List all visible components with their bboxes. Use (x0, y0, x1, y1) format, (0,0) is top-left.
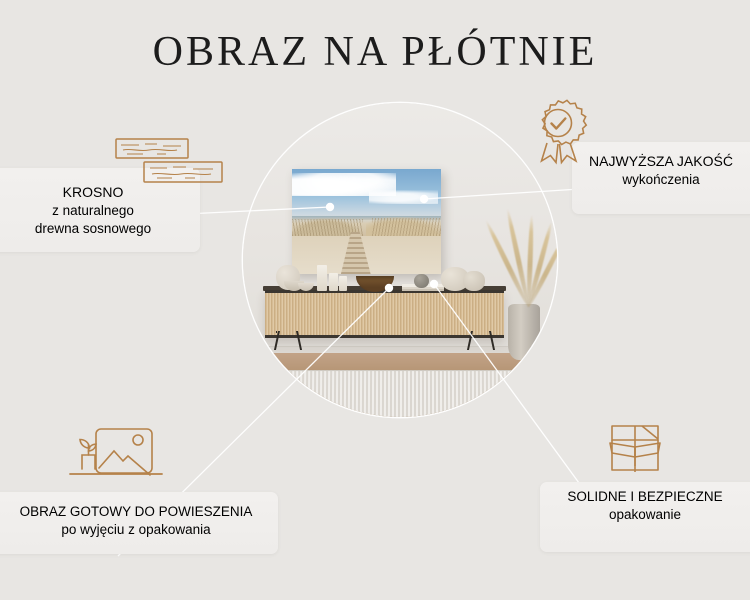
krosno-sub-2: drewna sosnowego (0, 220, 200, 238)
opakowanie-sub-1: opakowanie (540, 506, 750, 524)
open-box-icon (598, 416, 672, 487)
krosno-sub-1: z naturalnego (0, 202, 200, 220)
decor-candle-short (339, 276, 347, 290)
decor-candle-tall (317, 265, 327, 291)
opakowanie-kicker: SOLIDNE I BEZPIECZNE (540, 488, 750, 506)
feature-text-jakosc: NAJWYŻSZA JAKOŚĆ wykończenia (572, 152, 750, 189)
gotowy-kicker: OBRAZ GOTOWY DO POWIESZENIA (0, 503, 280, 521)
decor-candle-medium (329, 273, 338, 291)
center-product-photo (243, 103, 557, 417)
infographic-stage: OBRAZ NA PŁÓTNIE (0, 0, 750, 600)
rug (243, 370, 557, 417)
decor-ceramic-vase-small (463, 271, 485, 290)
tall-floor-vase (508, 304, 539, 361)
gotowy-sub-1: po wyjęciu z opakowania (0, 521, 280, 539)
page-title: OBRAZ NA PŁÓTNIE (0, 28, 750, 76)
decor-stone-sphere (414, 274, 428, 288)
artwork-clouds-secondary (369, 190, 438, 204)
canvas-artwork-beach (292, 169, 441, 274)
jakosc-kicker: NAJWYŻSZA JAKOŚĆ (572, 152, 750, 171)
feature-text-krosno: KROSNO z naturalnego drewna sosnowego (0, 183, 200, 238)
jakosc-sub-1: wykończenia (572, 171, 750, 189)
krosno-kicker: KROSNO (0, 183, 200, 202)
pampas-grass (491, 207, 557, 307)
feature-text-opakowanie: SOLIDNE I BEZPIECZNE opakowanie (540, 488, 750, 524)
sideboard-legs (271, 331, 497, 350)
interior-scene (243, 103, 557, 417)
feature-text-gotowy: OBRAZ GOTOWY DO POWIESZENIA po wyjęciu z… (0, 503, 280, 539)
framed-picture-icon (62, 424, 170, 501)
